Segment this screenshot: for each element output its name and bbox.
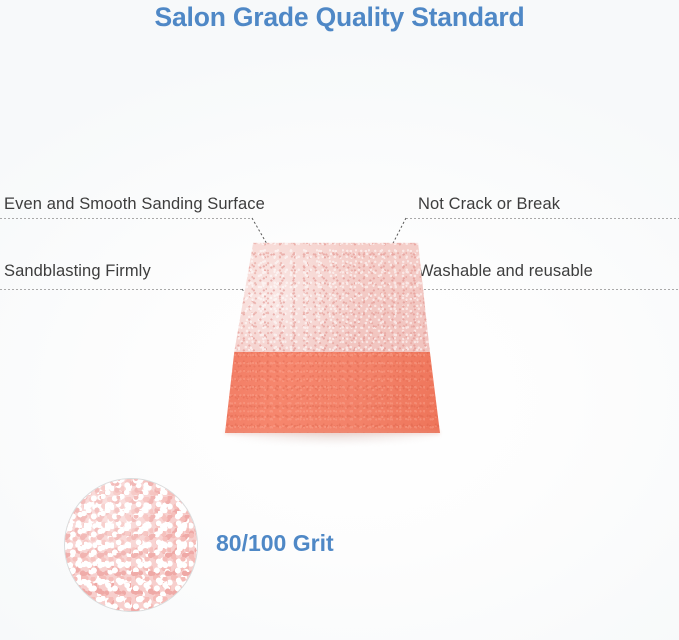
page-title: Salon Grade Quality Standard (0, 2, 679, 33)
foam-body-bottom-edge (225, 431, 440, 436)
grit-caption: 80/100 Grit (216, 530, 334, 557)
callout-rule-bottom-left (0, 289, 242, 290)
product-sanding-block (225, 238, 440, 443)
callout-label-washable-and-reusable: Washable and reusable (418, 262, 593, 281)
infographic-page: Salon Grade Quality Standard Even and Sm… (0, 0, 679, 640)
callout-rule-top-right (406, 218, 679, 219)
callout-label-even-smooth-sanding-surface: Even and Smooth Sanding Surface (4, 195, 265, 214)
callout-rule-bottom-right (416, 289, 679, 290)
grit-magnifier-circle (64, 478, 198, 612)
callout-label-sandblasting-firmly: Sandblasting Firmly (4, 262, 151, 281)
grit-highlight (65, 479, 197, 611)
callout-rule-top-left (0, 218, 252, 219)
callout-label-not-crack-or-break: Not Crack or Break (418, 195, 560, 214)
